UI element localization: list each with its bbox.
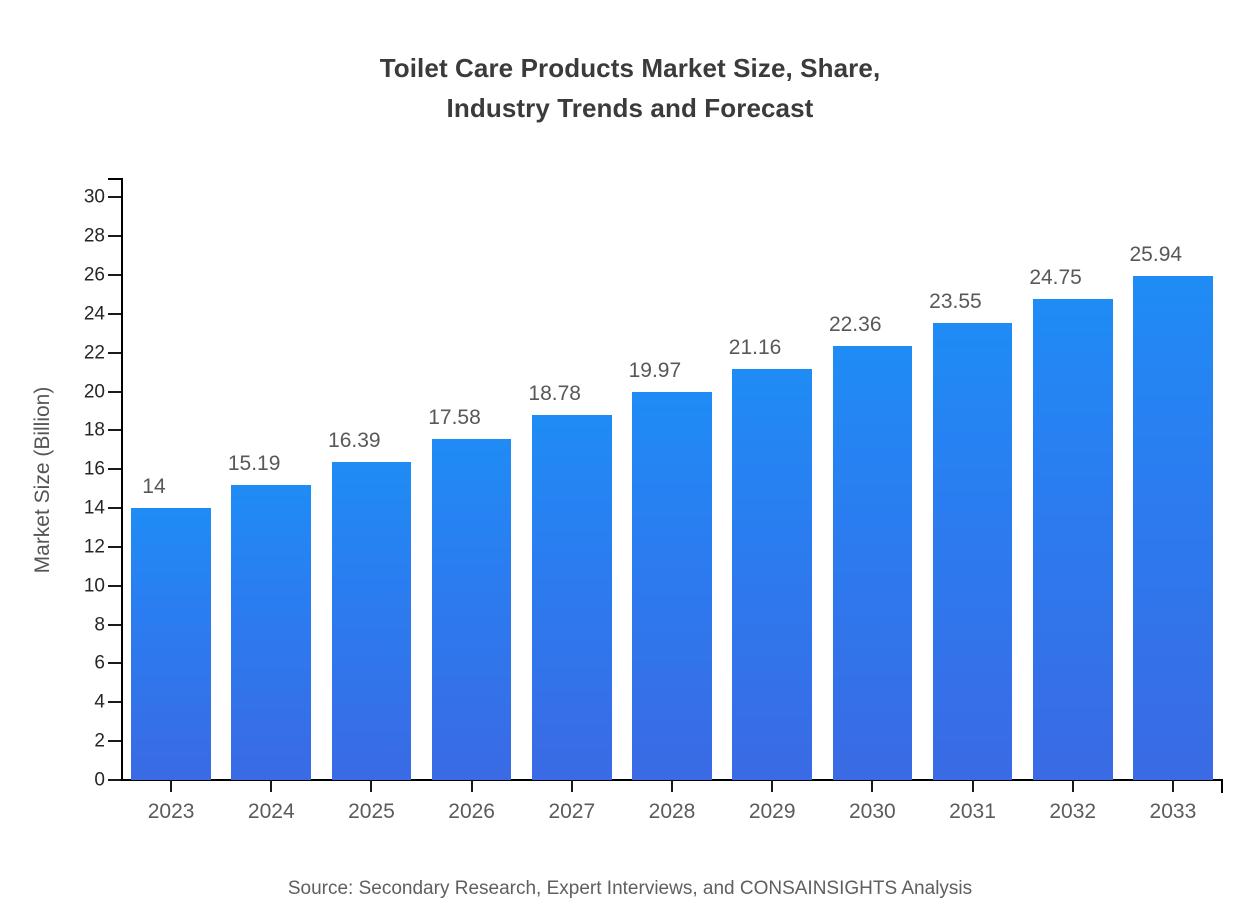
y-axis-tick-label: 2 xyxy=(59,732,105,751)
x-axis-tick xyxy=(370,780,372,792)
x-axis-tick xyxy=(972,780,974,792)
y-axis-tick-label: 22 xyxy=(59,343,105,362)
chart-title: Toilet Care Products Market Size, Share,… xyxy=(0,48,1260,128)
y-axis-tick-label: 0 xyxy=(59,771,105,790)
y-axis-tick-label: 8 xyxy=(59,615,105,634)
y-axis-tick xyxy=(108,235,121,237)
y-axis-tick-label: 4 xyxy=(59,693,105,712)
x-axis-tick-label-2033: 2033 xyxy=(1150,800,1197,824)
bar-2025[interactable] xyxy=(332,462,412,780)
bar-2033[interactable] xyxy=(1133,276,1213,780)
source-note: Source: Secondary Research, Expert Inter… xyxy=(0,878,1260,900)
bar-value-label-2030: 22.36 xyxy=(829,313,882,337)
x-axis-tick-label-2024: 2024 xyxy=(248,800,295,824)
y-axis-tick-label: 10 xyxy=(59,576,105,595)
y-axis-tick xyxy=(108,701,121,703)
x-axis-tick-label-2028: 2028 xyxy=(649,800,696,824)
x-axis-tick-label-2030: 2030 xyxy=(849,800,896,824)
y-axis-tick xyxy=(108,352,121,354)
y-axis-tick-label: 18 xyxy=(59,421,105,440)
x-axis-tick xyxy=(671,780,673,792)
bar-value-label-2029: 21.16 xyxy=(729,336,782,360)
bar-value-label-2033: 25.94 xyxy=(1130,243,1183,267)
y-axis-tick-label: 26 xyxy=(59,266,105,285)
x-axis-tick-label-2032: 2032 xyxy=(1049,800,1096,824)
y-axis-tick-label: 12 xyxy=(59,537,105,556)
y-axis-tick-label: 24 xyxy=(59,304,105,323)
chart-title-line-1: Toilet Care Products Market Size, Share, xyxy=(0,48,1260,88)
x-axis-tick xyxy=(771,780,773,792)
x-axis-tick-label-2031: 2031 xyxy=(949,800,996,824)
bar-2031[interactable] xyxy=(933,323,1013,780)
y-axis-tick xyxy=(108,313,121,315)
bar-2028[interactable] xyxy=(632,392,712,780)
bar-value-label-2023: 14 xyxy=(142,475,165,499)
y-axis-tick-label: 14 xyxy=(59,499,105,518)
bar-2030[interactable] xyxy=(833,346,913,780)
y-axis-tick xyxy=(108,429,121,431)
bar-value-label-2028: 19.97 xyxy=(629,359,682,383)
bar-2024[interactable] xyxy=(231,485,311,780)
bar-2023[interactable] xyxy=(131,508,211,780)
x-axis-tick-label-2026: 2026 xyxy=(448,800,495,824)
bar-value-label-2024: 15.19 xyxy=(228,452,281,476)
y-axis-tick xyxy=(108,274,121,276)
bar-chart-figure: Toilet Care Products Market Size, Share,… xyxy=(0,0,1260,920)
x-axis-tick xyxy=(170,780,172,792)
y-axis-tick xyxy=(108,624,121,626)
y-axis-tick xyxy=(108,468,121,470)
y-axis-tick-label: 16 xyxy=(59,460,105,479)
bar-2032[interactable] xyxy=(1033,299,1113,780)
x-axis-tick xyxy=(571,780,573,792)
x-axis-tick xyxy=(871,780,873,792)
plot-area: 02468101214161820222426283014202315.1920… xyxy=(121,178,1223,780)
chart-title-line-2: Industry Trends and Forecast xyxy=(0,88,1260,128)
y-axis-tick-label: 6 xyxy=(59,654,105,673)
bar-value-label-2027: 18.78 xyxy=(528,382,581,406)
y-axis-tick xyxy=(108,546,121,548)
x-axis-tick xyxy=(1072,780,1074,792)
x-axis-tick-label-2025: 2025 xyxy=(348,800,395,824)
x-axis-tick xyxy=(471,780,473,792)
y-axis-tick-label: 30 xyxy=(59,188,105,207)
bar-value-label-2025: 16.39 xyxy=(328,429,381,453)
bar-2029[interactable] xyxy=(732,369,812,780)
x-axis-tick-label-2027: 2027 xyxy=(548,800,595,824)
x-axis-tick-label-2029: 2029 xyxy=(749,800,796,824)
x-axis-tick-label-2023: 2023 xyxy=(148,800,195,824)
y-axis-tick xyxy=(108,196,121,198)
y-axis-tick xyxy=(108,740,121,742)
y-axis-tick xyxy=(108,662,121,664)
y-axis-tick-label: 20 xyxy=(59,382,105,401)
bar-2027[interactable] xyxy=(532,415,612,780)
y-axis-tick xyxy=(108,779,121,781)
y-axis-tick xyxy=(108,585,121,587)
bar-value-label-2026: 17.58 xyxy=(428,406,481,430)
x-axis-tick xyxy=(270,780,272,792)
y-axis-tick xyxy=(108,391,121,393)
x-axis-end-cap xyxy=(1221,779,1223,793)
bar-value-label-2031: 23.55 xyxy=(929,290,982,314)
y-axis-tick-label: 28 xyxy=(59,227,105,246)
bar-2026[interactable] xyxy=(432,439,512,780)
bar-value-label-2032: 24.75 xyxy=(1029,266,1082,290)
y-axis-tick xyxy=(108,507,121,509)
x-axis-tick xyxy=(1172,780,1174,792)
